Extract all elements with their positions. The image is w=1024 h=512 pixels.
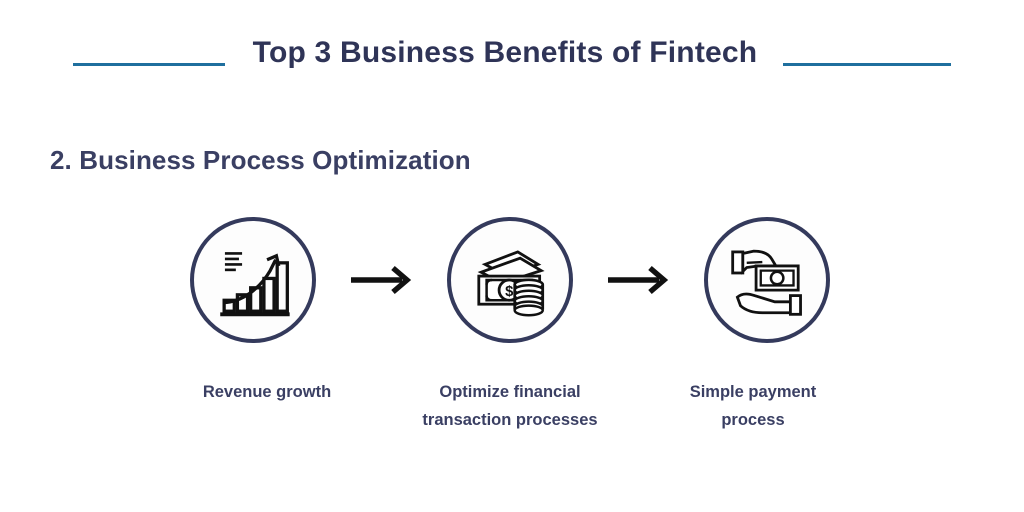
caption-step-1: Revenue growth — [160, 378, 374, 406]
title-row: Top 3 Business Benefits of Fintech — [0, 30, 1024, 76]
svg-text:$: $ — [505, 284, 514, 300]
hands-exchanging-money-icon — [728, 241, 806, 319]
cash-and-coins-icon: $ — [471, 241, 549, 319]
arrow-right-icon — [350, 263, 414, 297]
arrow-right-icon — [607, 263, 671, 297]
horizontal-rule-right — [783, 63, 951, 66]
page-title: Top 3 Business Benefits of Fintech — [253, 38, 758, 68]
flow-step-2: $ — [447, 217, 573, 343]
caption-line: process — [646, 406, 860, 434]
flow-step-1 — [190, 217, 316, 343]
caption-line: Revenue growth — [160, 378, 374, 406]
section-heading: 2. Business Process Optimization — [50, 145, 471, 176]
process-flow: $ — [190, 205, 830, 355]
caption-line: transaction processes — [394, 406, 626, 434]
caption-line: Optimize financial — [394, 378, 626, 406]
caption-step-2: Optimize financial transaction processes — [394, 378, 626, 435]
flow-captions: Revenue growth Optimize financial transa… — [160, 378, 860, 448]
flow-step-3 — [704, 217, 830, 343]
caption-step-3: Simple payment process — [646, 378, 860, 435]
growth-chart-icon — [214, 241, 292, 319]
caption-line: Simple payment — [646, 378, 860, 406]
horizontal-rule-left — [73, 63, 225, 66]
